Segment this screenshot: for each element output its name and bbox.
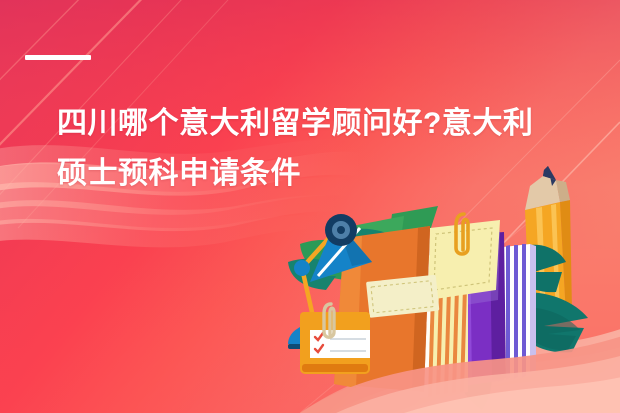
study-desk-illustration bbox=[0, 0, 620, 413]
paper-clip-icon bbox=[456, 214, 468, 254]
page-title: 四川哪个意大利留学顾问好?意大利硕士预科申请条件 bbox=[57, 99, 557, 199]
title-divider bbox=[25, 55, 91, 60]
clipboard-icon bbox=[300, 304, 370, 374]
promo-banner: 四川哪个意大利留学顾问好?意大利硕士预科申请条件 bbox=[0, 0, 620, 413]
